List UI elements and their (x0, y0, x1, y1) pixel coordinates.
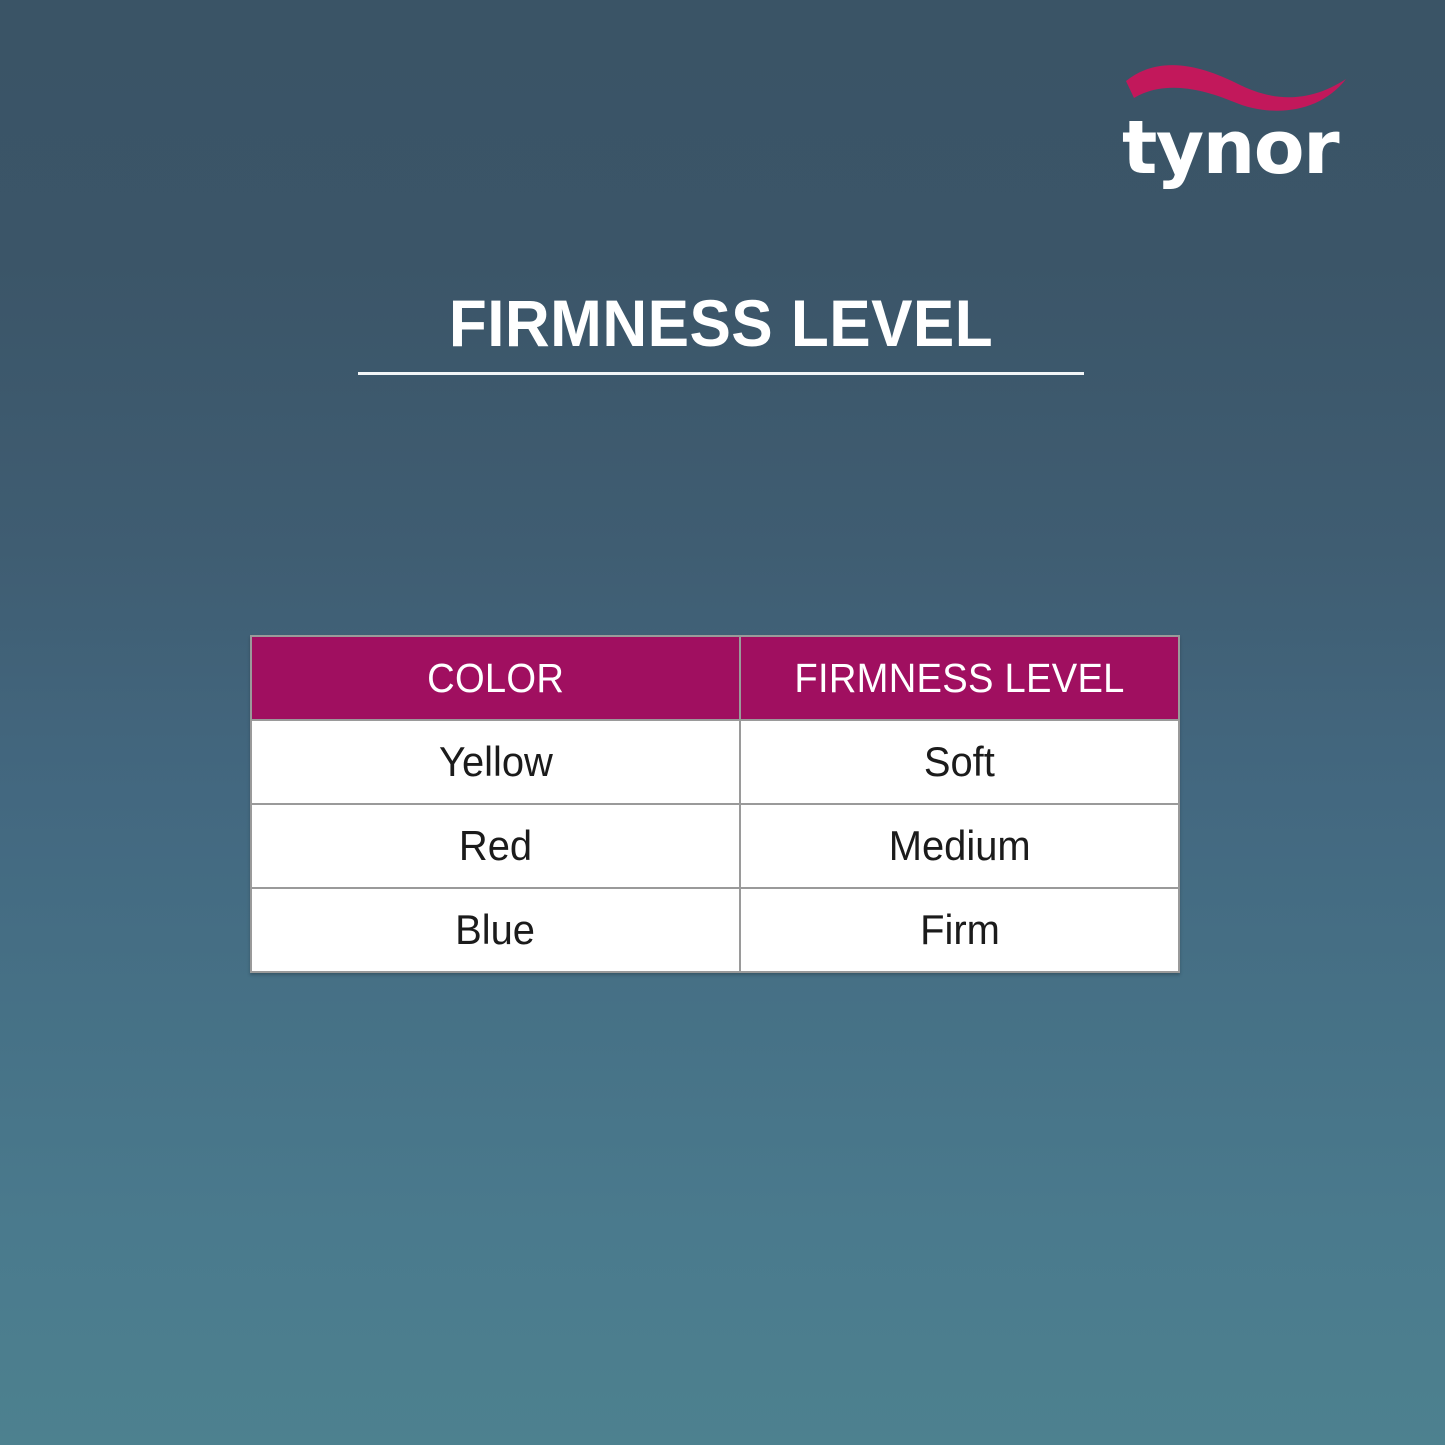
cell-color-value: Red (459, 822, 532, 870)
title-underline-divider (358, 372, 1084, 375)
table-row: Blue Firm (251, 888, 1179, 972)
column-header-firmness-label: FIRMNESS LEVEL (794, 655, 1124, 702)
column-header-firmness: FIRMNESS LEVEL (740, 636, 1179, 720)
cell-color: Yellow (251, 720, 740, 804)
firmness-table-wrapper: COLOR FIRMNESS LEVEL Yellow Soft Red Med… (250, 635, 1178, 969)
cell-firmness-value: Soft (924, 738, 995, 786)
poster-canvas: tynor FIRMNESS LEVEL COLOR FIRMNESS LEVE… (0, 0, 1445, 1445)
page-title-block: FIRMNESS LEVEL (358, 286, 1084, 375)
cell-color-value: Yellow (439, 738, 553, 786)
cell-firmness: Soft (740, 720, 1179, 804)
table-header-row: COLOR FIRMNESS LEVEL (251, 636, 1179, 720)
cell-firmness: Medium (740, 804, 1179, 888)
cell-color: Red (251, 804, 740, 888)
cell-firmness-value: Firm (920, 906, 1000, 954)
brand-wordmark: tynor (1122, 108, 1360, 188)
cell-firmness: Firm (740, 888, 1179, 972)
cell-firmness-value: Medium (889, 822, 1031, 870)
table-row: Yellow Soft (251, 720, 1179, 804)
firmness-table: COLOR FIRMNESS LEVEL Yellow Soft Red Med… (250, 635, 1180, 973)
column-header-color-label: COLOR (427, 655, 564, 702)
page-title: FIRMNESS LEVEL (380, 286, 1062, 360)
table-row: Red Medium (251, 804, 1179, 888)
cell-color-value: Blue (456, 906, 536, 954)
brand-logo: tynor (1120, 58, 1360, 193)
column-header-color: COLOR (251, 636, 740, 720)
cell-color: Blue (251, 888, 740, 972)
